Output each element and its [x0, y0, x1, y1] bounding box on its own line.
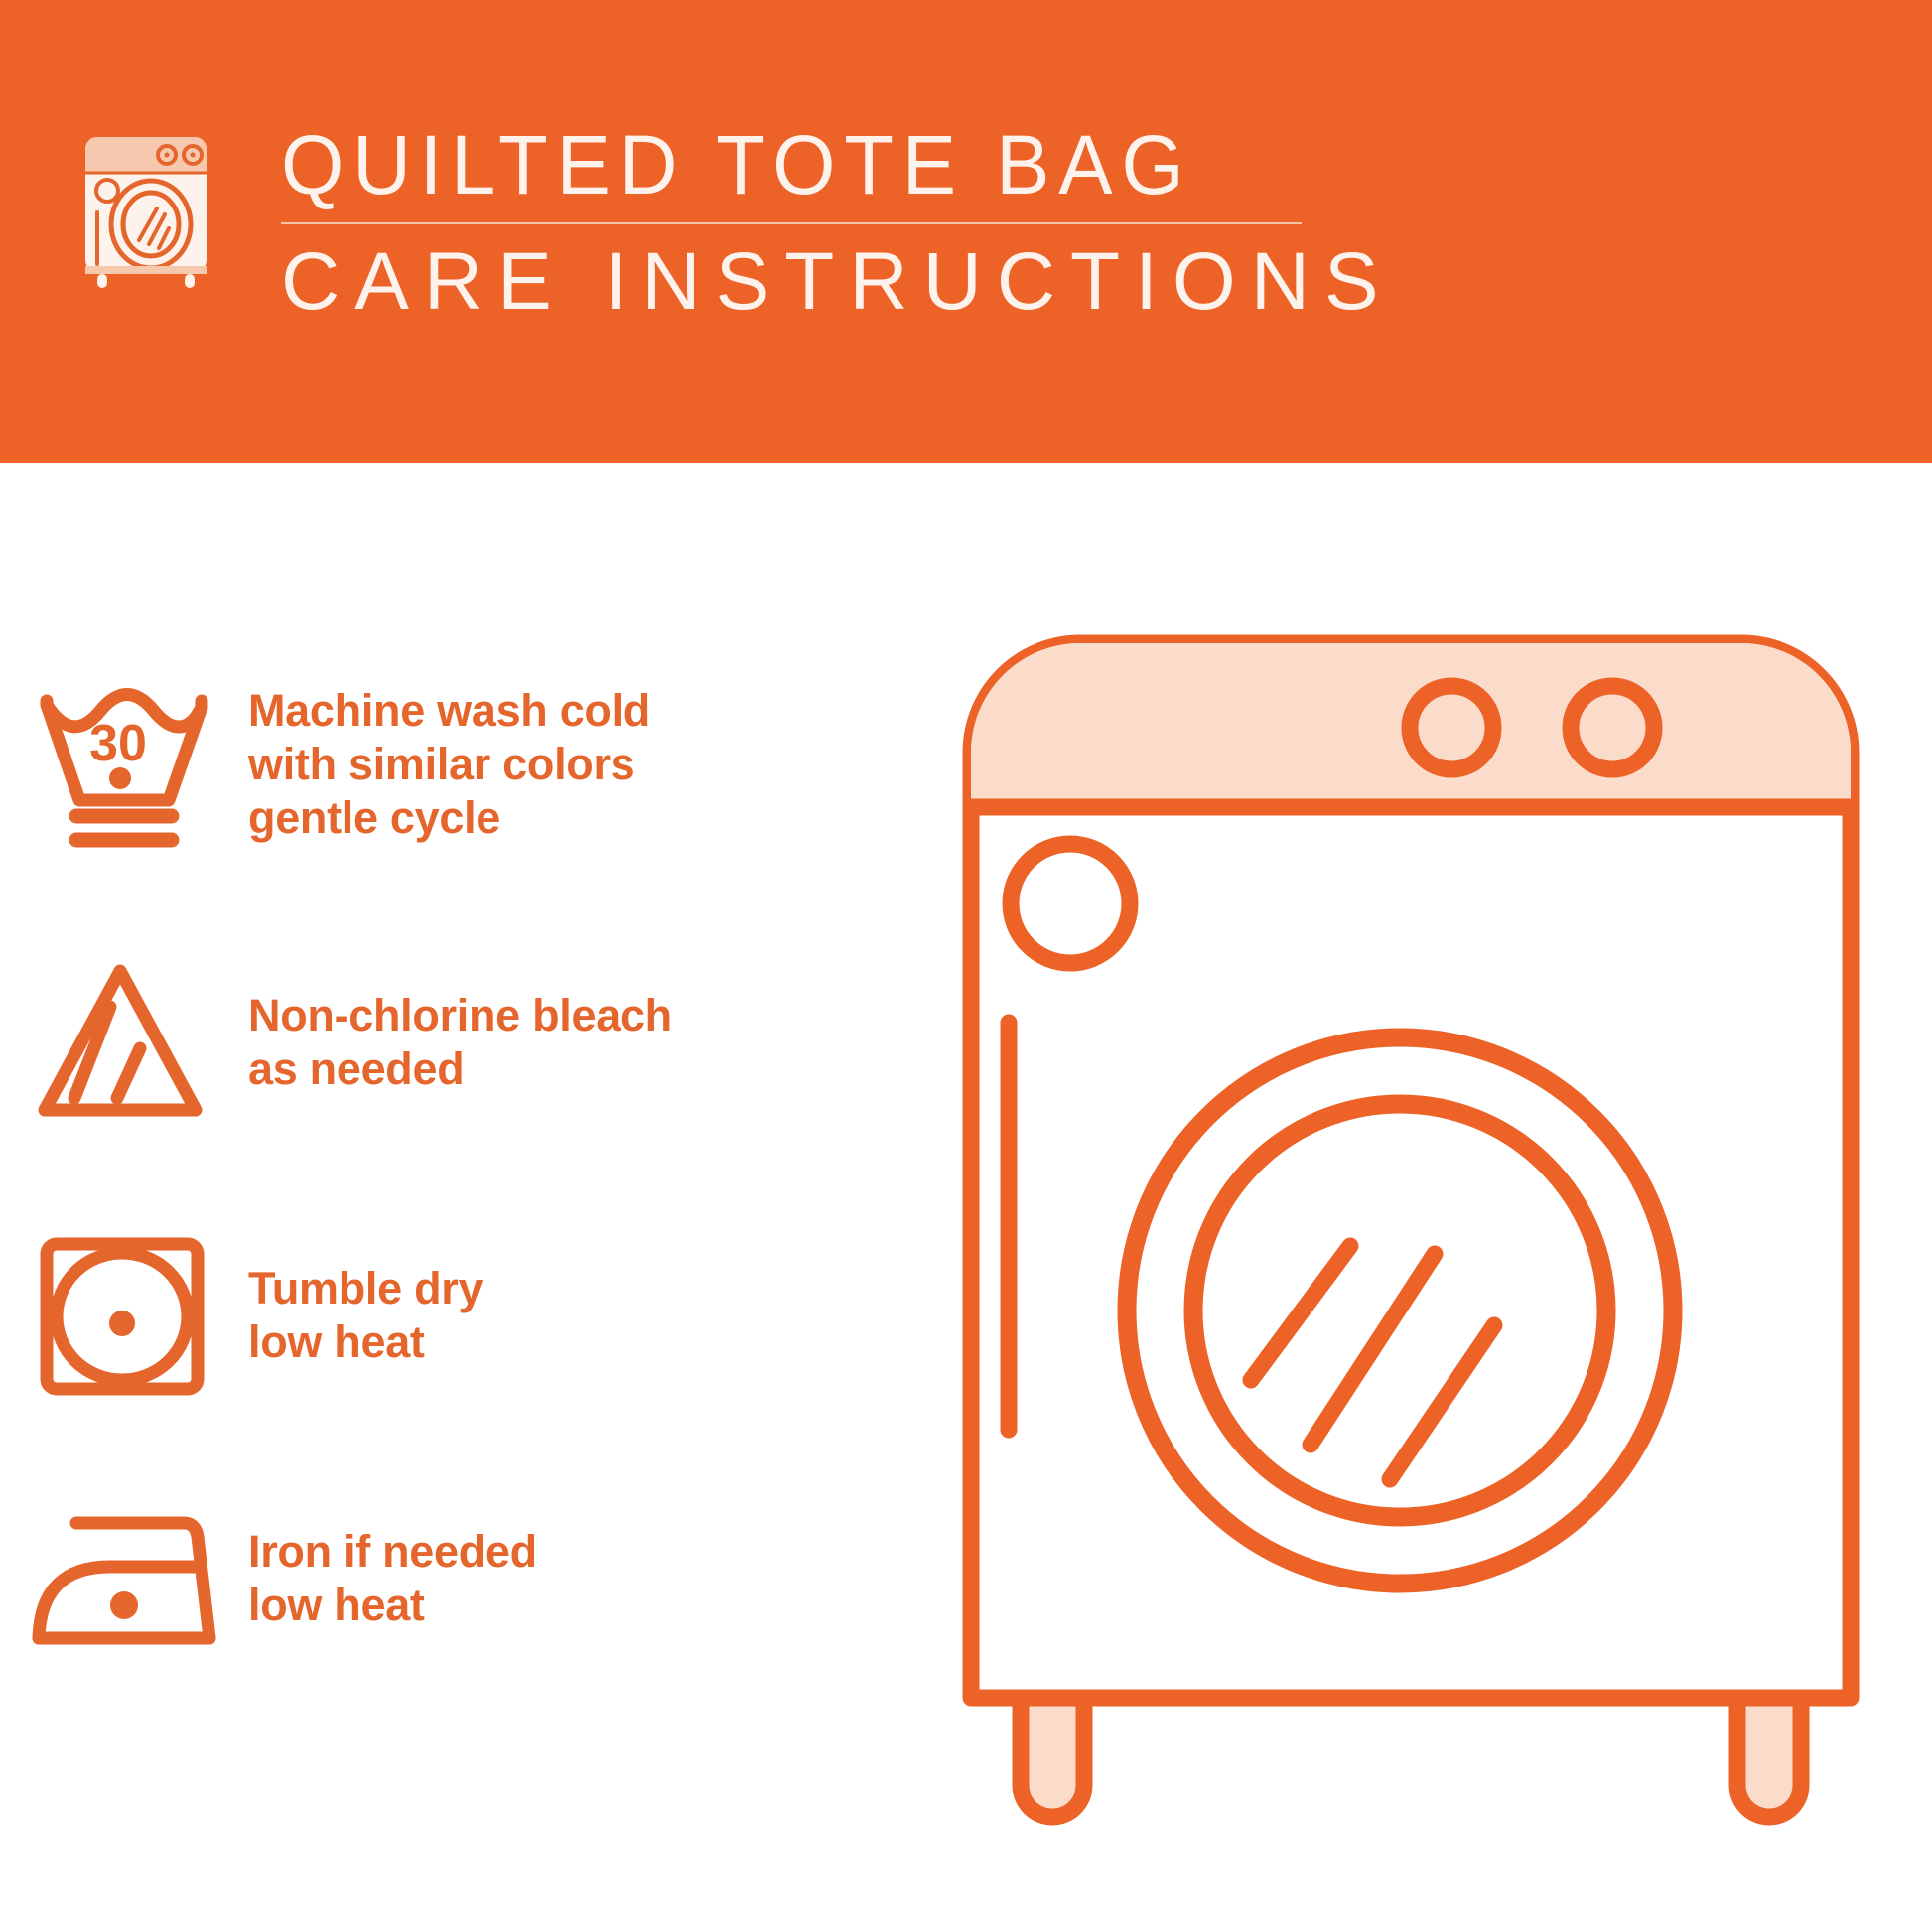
wash-temperature-value: 30 — [89, 715, 147, 772]
care-line: Iron if needed — [248, 1525, 537, 1579]
care-line: low heat — [248, 1579, 537, 1632]
care-text-iron: Iron if needed low heat — [248, 1525, 537, 1632]
care-text-bleach: Non-chlorine bleach as needed — [248, 989, 672, 1096]
care-line: Non-chlorine bleach — [248, 989, 672, 1042]
page-title: QUILTED TOTE BAG — [281, 123, 1302, 207]
tumble-dry-low-heat-icon — [0, 1226, 248, 1405]
care-row-tumble-dry: Tumble dry low heat — [0, 1226, 933, 1405]
care-line: low heat — [248, 1315, 483, 1369]
care-line: with similar colors — [248, 738, 650, 791]
care-text-machine-wash: Machine wash cold with similar colors ge… — [248, 684, 650, 845]
header-title-block: QUILTED TOTE BAG CARE INSTRUCTIONS — [281, 123, 1333, 323]
gentle-cycle-dot — [109, 767, 131, 789]
non-chlorine-bleach-triangle-icon — [0, 953, 248, 1132]
care-line: as needed — [248, 1042, 672, 1096]
iron-low-heat-icon — [0, 1489, 248, 1668]
header-banner: QUILTED TOTE BAG CARE INSTRUCTIONS — [0, 0, 1932, 463]
title-divider — [281, 222, 1302, 224]
washing-machine-logo-icon — [71, 129, 220, 288]
care-row-machine-wash: 30 Machine wash cold with similar colors… — [0, 675, 933, 854]
care-row-iron: Iron if needed low heat — [0, 1489, 933, 1668]
care-row-bleach: Non-chlorine bleach as needed — [0, 953, 933, 1132]
care-text-tumble-dry: Tumble dry low heat — [248, 1262, 483, 1369]
wash-tub-30-gentle-icon: 30 — [0, 675, 248, 854]
low-heat-dot — [109, 1311, 135, 1336]
care-line: Tumble dry — [248, 1262, 483, 1315]
iron-low-heat-dot — [110, 1591, 138, 1619]
page-subtitle: CARE INSTRUCTIONS — [281, 241, 1333, 323]
washing-machine-illustration — [953, 625, 1866, 1871]
care-line: gentle cycle — [248, 791, 650, 845]
care-line: Machine wash cold — [248, 684, 650, 738]
